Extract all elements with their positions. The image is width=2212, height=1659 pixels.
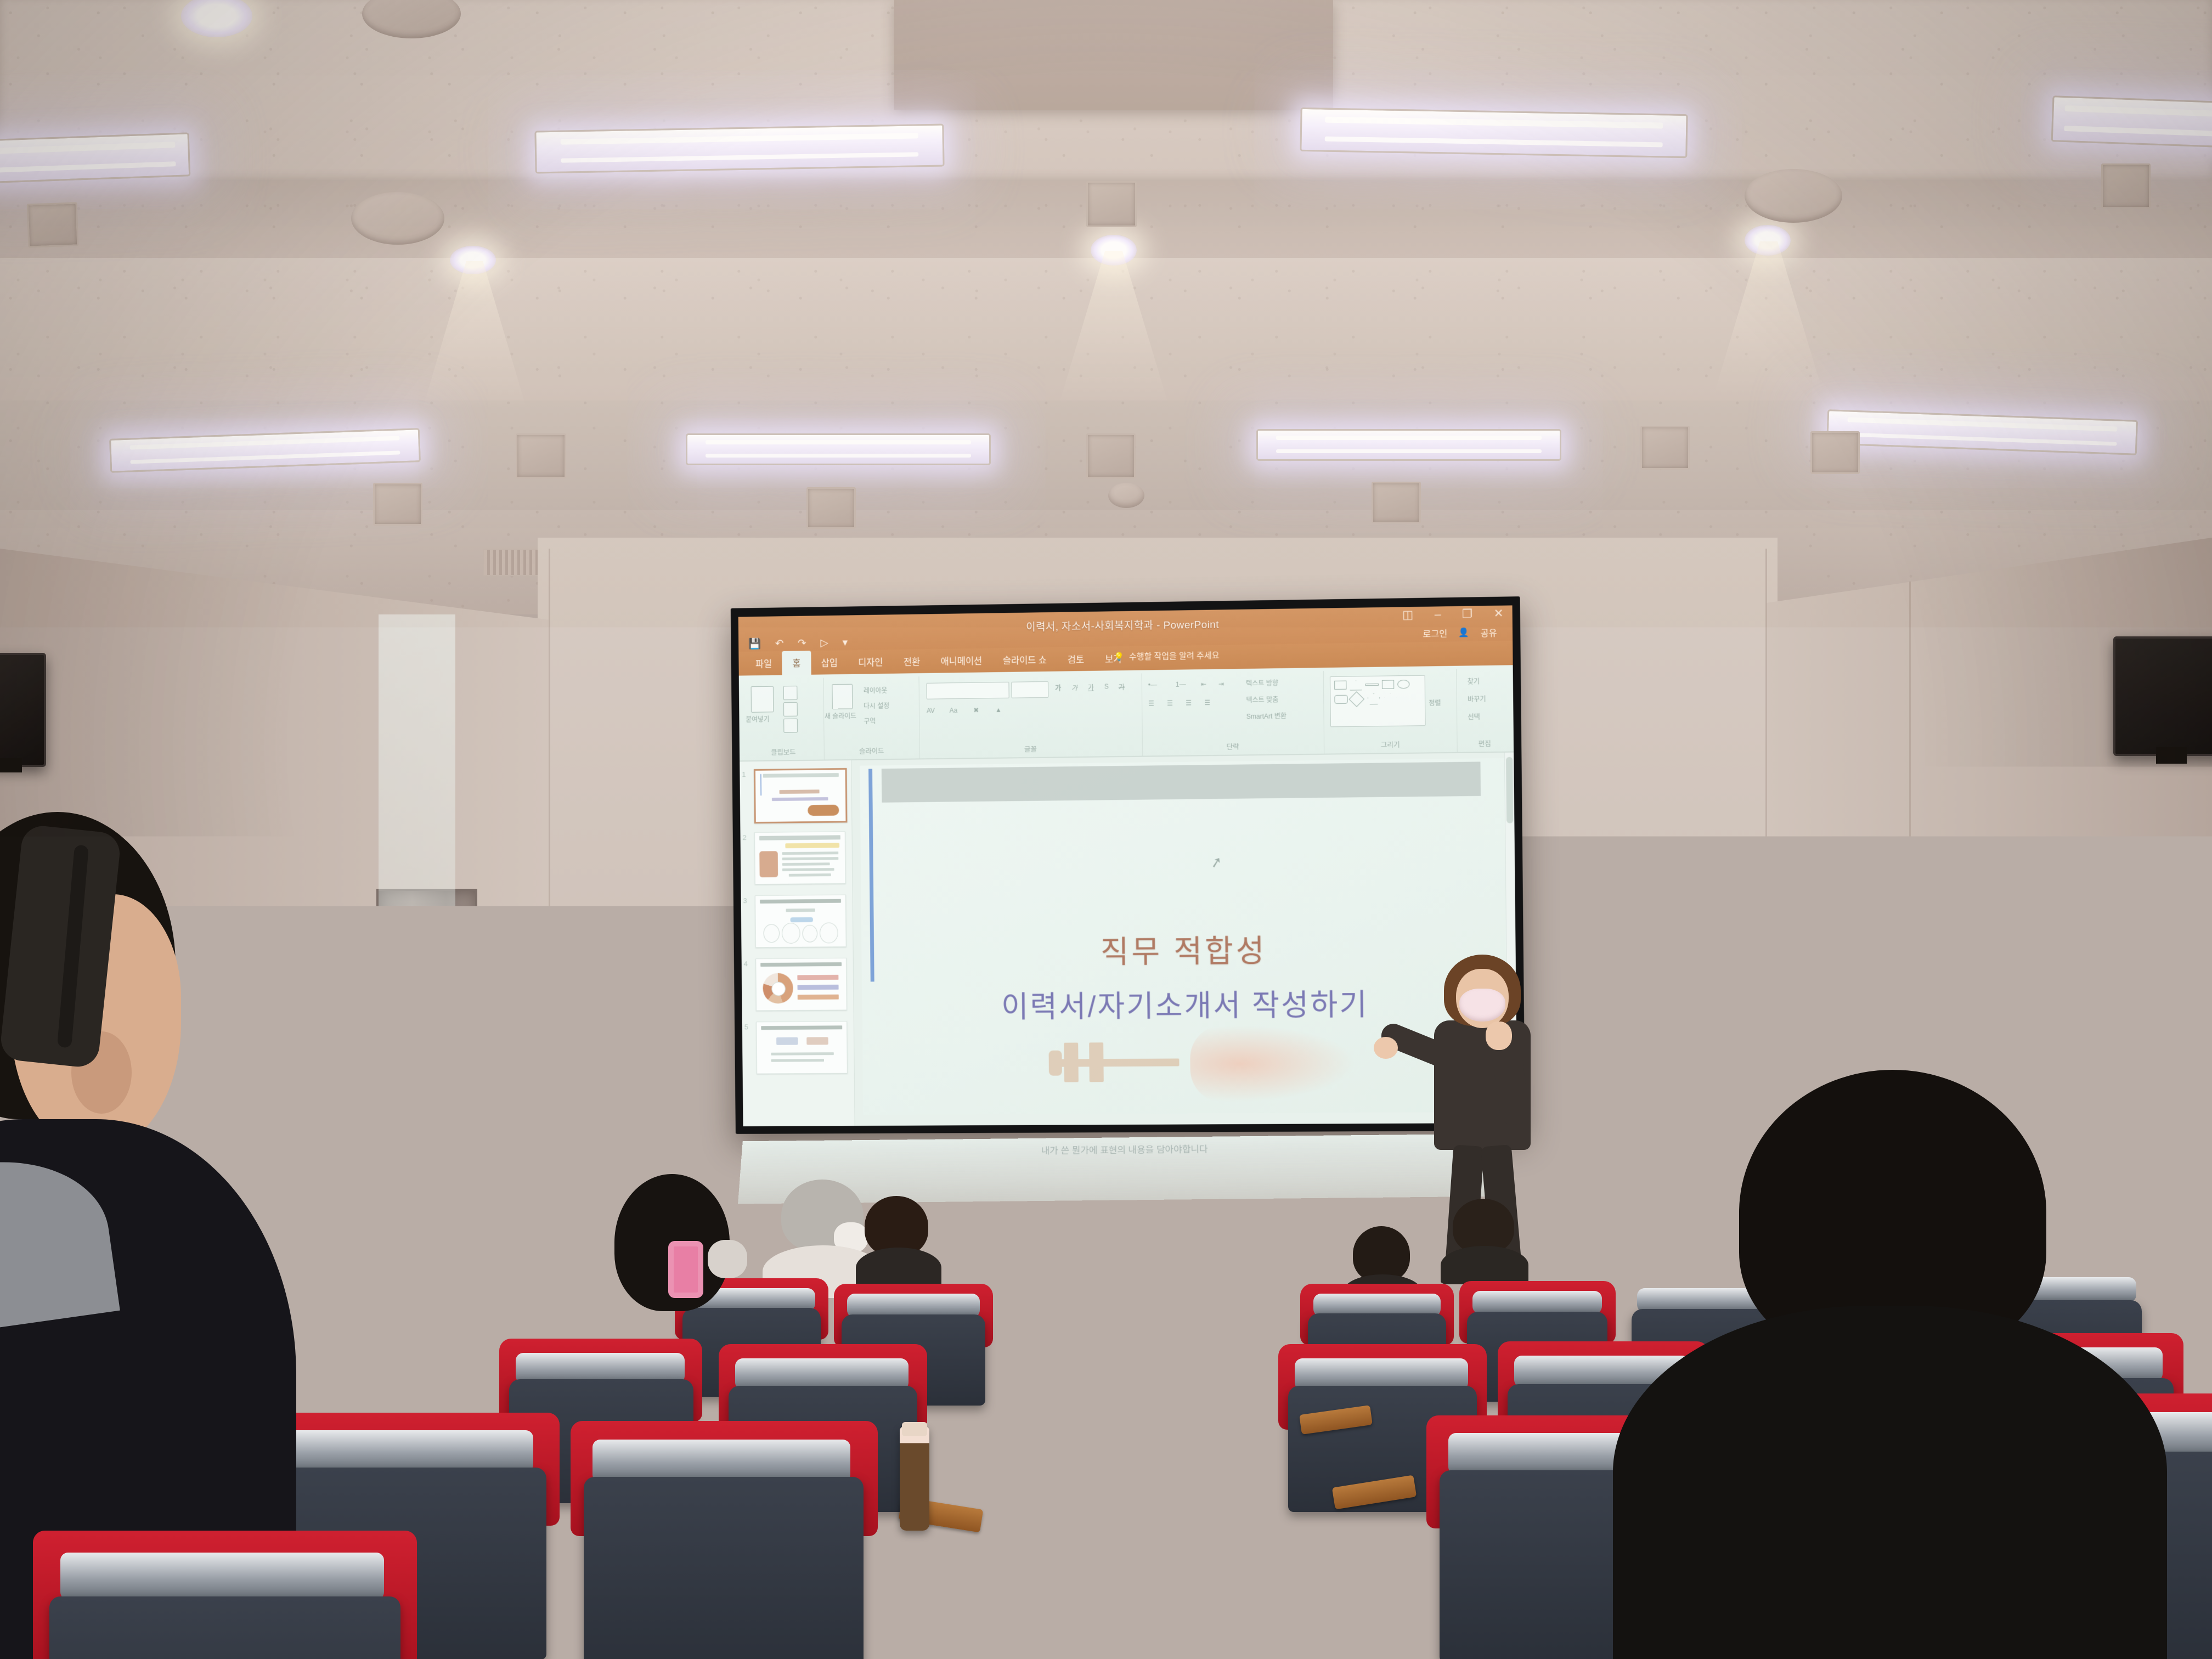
ceiling [0,0,2212,614]
fluorescent-light [686,433,991,465]
tab-slideshow[interactable]: 슬라이드 쇼 [992,647,1057,673]
thumbnail-slide-5[interactable] [756,1021,848,1074]
thumb-highlight [785,843,839,848]
rectangle-shape-icon[interactable] [1334,681,1346,690]
underline-button[interactable]: 가 [1088,683,1094,692]
thumbnail-number: 1 [742,770,746,778]
audience-member [1448,1199,1520,1281]
thumb-photo [759,851,778,877]
seat-backrest [584,1477,864,1659]
ribbon-group-paragraph: •— 1— ⇤ ⇥ ☰ ☰ ☰ ☰ 텍스트 방향 텍스트 맞춤 SmartArt… [1142,671,1325,756]
thumb-topbar [763,773,839,778]
account-area[interactable]: 로그인 👤 공유 [1423,625,1497,640]
audience-hair [1579,1215,1639,1272]
fluorescent-light [1300,108,1688,158]
thumb-text-line [782,857,839,860]
tell-me-search[interactable]: 💡 수행할 작업을 알려 주세요 [1114,650,1219,663]
ceiling-vent [373,483,422,526]
thumbnail-item[interactable]: 4 [751,958,847,1014]
tab-transitions[interactable]: 전환 [893,649,930,674]
tab-review[interactable]: 검토 [1057,647,1095,672]
ribbon-group-drawing: 정렬 그리기 [1323,669,1458,754]
seat-chrome-trim [60,1553,384,1600]
thumb-accent [760,774,761,796]
ribbon-group-label: 편집 [1457,737,1513,748]
door-handle-icon [1810,899,1872,907]
paste-icon[interactable] [751,686,774,713]
text-direction-label[interactable]: 텍스트 방향 [1246,678,1278,688]
bold-button[interactable]: 가 [1055,684,1061,693]
thumb-text-line [771,1052,833,1056]
thumbnail-slide-1[interactable] [754,768,848,823]
stage-step [1037,1388,1311,1441]
select-label[interactable]: 선택 [1468,712,1480,721]
ribbon-group-font: 가 가 가 S 가 AV Aa ✖ ▲ 글꼴 [919,674,1143,759]
window-controls[interactable]: ◫ – ❐ ✕ [1402,607,1504,622]
ceiling-vent [2101,163,2151,208]
seat-chrome-trim [1472,1291,1602,1314]
speaker-bracket [0,758,22,772]
tab-design[interactable]: 디자인 [848,650,893,674]
thumb-circle [802,925,817,943]
key-bow [1049,1051,1062,1076]
audience-hair [1453,1199,1514,1254]
convert-to-smartart-label[interactable]: SmartArt 변환 [1246,711,1286,721]
thumb-text-line [782,851,839,855]
thumb-header [760,899,841,904]
ceiling-vent [1810,431,1860,474]
thumbnail-number: 2 [742,833,746,842]
ceiling-vent [516,433,566,478]
decrease-indent-button[interactable]: ⇤ [1201,680,1206,688]
fluorescent-light [0,132,190,183]
restore-icon[interactable]: ❐ [1462,607,1472,621]
signin-label[interactable]: 로그인 [1423,626,1447,640]
cut-icon[interactable] [783,686,798,700]
audience-face-mask [708,1240,747,1278]
audience-shoulders [856,1248,941,1288]
quick-access-toolbar[interactable]: 💾 ↶ ↷ ▷ ▾ [748,636,848,650]
replace-label[interactable]: 바꾸기 [1468,694,1486,704]
pink-hair-clip-icon [668,1241,703,1298]
ppt-document-title: 이력서, 자소서-사회복지학과 - PowerPoint [738,612,1513,639]
projection-spill-left [379,614,455,1141]
audience-member [861,1196,933,1289]
thumb-bullet-line [797,975,838,980]
clear-formatting-button[interactable]: ✖ [973,706,979,714]
reset-label[interactable]: 다시 설정 [864,701,889,711]
audience-member [598,1174,746,1355]
drink-bottle [900,1426,929,1531]
folding-table-apron [349,1128,550,1188]
audience-hair [1353,1226,1410,1282]
ribbon: 붙여넣기 클립보드 새 슬라이드 레이아웃 다시 설정 구역 슬라이드 [739,665,1514,761]
character-spacing-button[interactable]: AV [927,707,935,714]
customize-qat-chevron-down-icon[interactable]: ▾ [842,636,848,649]
lectern-device [1668,1012,1728,1030]
start-slideshow-icon[interactable]: ▷ [820,636,828,649]
fluorescent-light [534,123,944,173]
presenter-right-hand [1486,1022,1512,1050]
thumb-text-line [771,1059,825,1062]
thumb-circle [763,924,780,943]
thumb-bullet-line [798,985,839,990]
arrow-shape-icon[interactable] [1382,680,1394,689]
align-center-button[interactable]: ☰ [1167,699,1173,707]
thumb-header [760,962,842,967]
copy-icon[interactable] [783,702,798,716]
align-left-button[interactable]: ☰ [1148,699,1154,707]
ribbon-group-editing: 찾기 바꾸기 선택 편집 [1456,668,1513,752]
ribbon-group-label: 글꼴 [919,742,1142,755]
thumbnail-item[interactable]: 1 [749,768,845,825]
slide-title-text[interactable]: 직무 적합성 [861,924,1510,973]
ribbon-group-clipboard: 붙여넣기 클립보드 [742,678,825,760]
auditorium-photo: 이력서, 자소서-사회복지학과 - PowerPoint 💾 ↶ ↷ ▷ ▾ ◫… [0,0,2212,1659]
slide-subtitle-text[interactable]: 이력서/자기소개서 작성하기 [862,979,1511,1027]
ceiling-vent [1640,426,1690,470]
format-painter-icon[interactable] [783,719,798,733]
ceiling-vent [806,487,856,529]
minimize-icon[interactable]: – [1435,608,1441,621]
audience-shoulders [1613,1306,2167,1659]
wall-speaker-right [2113,636,2212,756]
ceiling-vent [1086,433,1136,478]
seat-chrome-trim [592,1440,850,1482]
audience-face-mask [307,1231,343,1274]
thumb-header [761,1025,842,1030]
ribbon-group-label: 클립보드 [743,746,824,758]
new-slide-icon[interactable] [832,684,853,709]
ppt-workspace: 1 2 [740,753,1517,1126]
justify-button[interactable]: ☰ [1204,699,1210,707]
projection-spill-text: 내가 쓴 뭔가에 표현의 내용을 담아야합니다 [741,1139,1507,1159]
seat-chrome-trim [285,1430,533,1472]
audience-shoulders [1441,1246,1528,1284]
stage-step [1045,1333,1303,1381]
new-slide-label[interactable]: 새 슬라이드 [825,711,856,721]
wall-speaker-left [0,653,46,767]
section-label[interactable]: 구역 [864,716,876,726]
thumbnail-slide-3[interactable] [755,895,847,948]
presenter-face-mask [1459,989,1505,1022]
tab-home[interactable]: 홈 [782,651,811,675]
mouse-cursor-icon: ➚ [1209,853,1224,872]
change-case-button[interactable]: Aa [950,707,958,714]
tab-file[interactable]: 파일 [745,651,782,676]
speaker-bracket [2156,747,2187,764]
thumb-circle [820,922,838,943]
font-name-combobox[interactable] [926,682,1009,699]
ribbon-group-label: 단락 [1142,740,1324,753]
key-tooth [1064,1065,1079,1082]
fluorescent-light [2051,95,2212,148]
save-icon[interactable]: 💾 [748,637,761,651]
lightbulb-icon: 💡 [1114,651,1124,661]
ceiling-soffit [894,0,1333,110]
key-tooth [1090,1065,1104,1082]
thumbnail-item[interactable]: 2 [750,831,845,888]
tell-me-placeholder: 수행할 작업을 알려 주세요 [1129,650,1220,662]
thumb-ribbon-shape [791,917,813,922]
thumb-block [776,1037,798,1045]
stage-step [1027,1448,1320,1505]
align-text-label[interactable]: 텍스트 맞춤 [1246,695,1278,704]
ribbon-group-label: 슬라이드 [824,745,919,757]
strikethrough-button[interactable]: 가 [1119,682,1125,692]
person-icon: 👤 [1458,627,1469,638]
layout-label[interactable]: 레이아웃 [864,686,888,695]
thumb-header [759,835,840,840]
rounded-rect-shape-icon[interactable] [1334,695,1347,704]
slide-thumbnail-pane[interactable]: 1 2 [740,760,855,1126]
slide-editing-canvas[interactable]: ➚ 직무 적합성 이력서/자기소개서 작성하기 [860,758,1511,1115]
presenter-left-hand [1374,1037,1398,1059]
increase-indent-button[interactable]: ⇥ [1218,680,1224,688]
text-shadow-button[interactable]: S [1104,682,1109,690]
bottle-cap [902,1422,927,1436]
line-shape-icon[interactable] [1365,684,1379,686]
ceiling-vent [1372,482,1421,523]
key-tooth [1064,1043,1078,1060]
hand-decoration-graphic [1190,1024,1356,1102]
thumbnail-item[interactable]: 5 [752,1021,847,1077]
aisle-carpet [1009,1536,1393,1659]
thumb-subtitle [786,909,815,912]
thumb-text-line [782,868,834,871]
tab-insert[interactable]: 삽입 [811,650,848,675]
font-color-button[interactable]: ▲ [995,706,1002,714]
ribbon-display-options-icon[interactable]: ◫ [1402,608,1413,622]
thumbnail-item[interactable]: 3 [751,895,846,951]
ceiling-diffuser [351,192,444,245]
undo-icon[interactable]: ↶ [775,637,784,650]
thumbnail-slide-4[interactable] [755,958,847,1011]
redo-icon[interactable]: ↷ [798,637,806,650]
numbering-button[interactable]: 1— [1176,680,1186,688]
scrollbar-thumb[interactable] [1506,757,1513,823]
bullets-button[interactable]: •— [1148,681,1157,689]
thumb-block [806,1037,828,1045]
key-tooth [1089,1042,1103,1060]
thumbnail-number: 4 [744,960,748,968]
align-right-button[interactable]: ☰ [1186,699,1192,707]
thumb-circle [782,923,800,944]
ceiling-diffuser [1745,169,1842,223]
thumb-key-graphic [808,805,839,816]
seat-backrest [49,1596,400,1659]
arrange-label[interactable]: 정렬 [1429,698,1441,707]
close-icon[interactable]: ✕ [1493,607,1503,620]
thumbnail-number: 3 [743,896,747,905]
font-size-combobox[interactable] [1011,681,1048,698]
thumb-text-line [789,873,831,877]
ceiling-vent [27,202,79,247]
paste-label[interactable]: 붙여넣기 [746,714,770,724]
thumb-sub-line [772,797,828,801]
ribbon-group-label: 그리기 [1324,738,1457,751]
thumb-donut-hole [771,982,786,996]
share-label[interactable]: 공유 [1481,625,1497,639]
slide-selected-placeholder[interactable] [882,761,1481,802]
fluorescent-light [1256,429,1561,461]
ribbon-group-slides: 새 슬라이드 레이아웃 다시 설정 구역 슬라이드 [823,676,919,759]
thumbnail-slide-2[interactable] [754,831,846,884]
ceiling-diffuser [1108,483,1144,508]
thumb-text-line [782,862,830,866]
thumb-bullet-line [798,995,839,1000]
tab-animations[interactable]: 애니메이션 [930,648,992,673]
thumb-title-line [780,789,820,794]
ceiling-vent [1086,181,1137,227]
italic-button[interactable]: 가 [1071,683,1077,692]
find-label[interactable]: 찾기 [1468,676,1480,686]
audience-member [1635,1070,2129,1659]
thumbnail-number: 5 [744,1023,748,1031]
